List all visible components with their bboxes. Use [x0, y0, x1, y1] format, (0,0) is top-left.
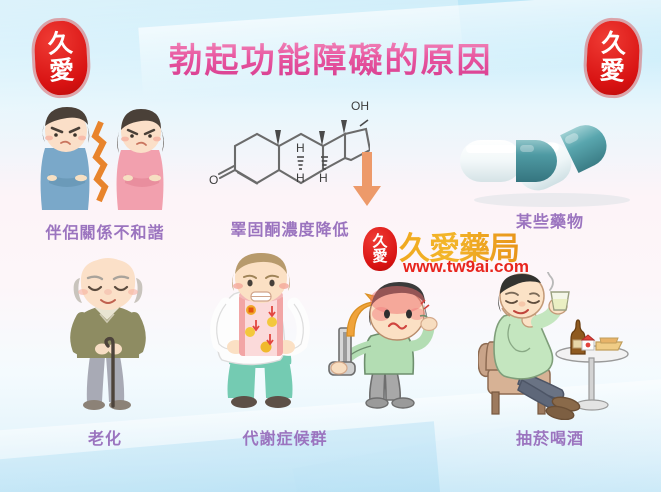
- obese-man-blood-vessel: [200, 252, 320, 417]
- seal-char-top: 久: [601, 31, 627, 57]
- boy-with-pump-and-up-arrow: [325, 280, 450, 415]
- seal-char-top: 久: [372, 234, 387, 249]
- cause-label-low-testosterone: 睪固酮濃度降低: [205, 216, 375, 240]
- infographic-canvas: 勃起功能障礙的原因 久 愛 久 愛: [0, 0, 661, 492]
- atom-label-H: H: [319, 171, 328, 185]
- seal-char-bottom: 愛: [372, 249, 387, 264]
- atom-label-H: H: [296, 171, 305, 185]
- brand-seal-left: 久 愛: [33, 20, 89, 97]
- cause-label-smoking-drinking: 抽菸喝酒: [470, 425, 630, 449]
- watermark-seal-icon: 久 愛: [363, 227, 397, 271]
- atom-label-OH: OH: [351, 99, 369, 113]
- seal-char-bottom: 愛: [49, 58, 75, 84]
- atom-label-O: O: [209, 173, 218, 187]
- brand-seal-right: 久 愛: [585, 20, 641, 97]
- seal-char-bottom: 愛: [599, 58, 625, 84]
- man-smoking-drinking: [478, 272, 630, 420]
- capsule-pills: [452, 110, 652, 210]
- cause-label-partner-conflict: 伴侶關係不和諧: [20, 219, 190, 243]
- cause-label-metabolic-syndrome: 代謝症候群: [205, 425, 365, 449]
- seal-char-top: 久: [47, 31, 73, 57]
- cause-label-aging: 老化: [40, 425, 170, 449]
- testosterone-molecule: O H H H OH: [205, 98, 370, 213]
- elderly-man-with-cane: [58, 258, 166, 418]
- angry-couple-illustration: [25, 104, 175, 216]
- atom-label-H: H: [296, 141, 305, 155]
- page-title: 勃起功能障礙的原因: [0, 33, 661, 82]
- down-arrow-icon: [350, 152, 384, 208]
